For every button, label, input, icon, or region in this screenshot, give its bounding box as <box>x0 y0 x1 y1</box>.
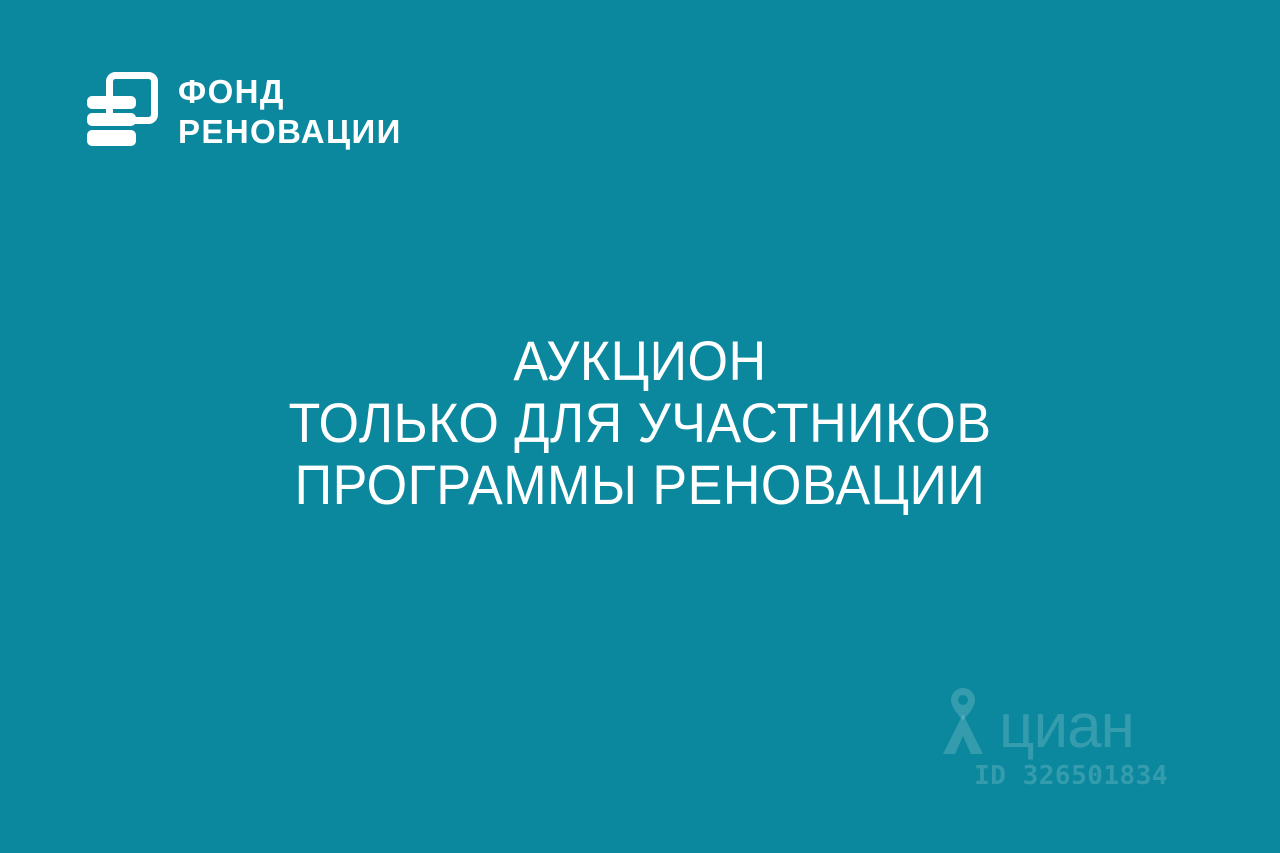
headline-block: АУКЦИОН ТОЛЬКО ДЛЯ УЧАСТНИКОВ ПРОГРАММЫ … <box>0 330 1280 516</box>
cian-brand-text: циан <box>999 698 1134 756</box>
headline-line-1: АУКЦИОН <box>45 330 1235 392</box>
brand-name-line-2: РЕНОВАЦИИ <box>178 115 402 148</box>
brand-logo: ФОНД РЕНОВАЦИИ <box>84 70 402 152</box>
map-pin-icon <box>933 686 993 756</box>
cian-watermark: циан ID 326501834 <box>933 686 1168 791</box>
brand-wordmark: ФОНД РЕНОВАЦИИ <box>178 75 402 148</box>
headline-line-3: ПРОГРАММЫ РЕНОВАЦИИ <box>45 454 1235 516</box>
brand-name-line-1: ФОНД <box>178 75 402 108</box>
listing-banner: ФОНД РЕНОВАЦИИ АУКЦИОН ТОЛЬКО ДЛЯ УЧАСТН… <box>0 0 1280 853</box>
stacked-documents-icon <box>84 70 160 152</box>
listing-id-text: ID 326501834 <box>974 761 1168 791</box>
cian-logo: циан <box>933 686 1134 756</box>
headline-line-2: ТОЛЬКО ДЛЯ УЧАСТНИКОВ <box>45 392 1235 454</box>
